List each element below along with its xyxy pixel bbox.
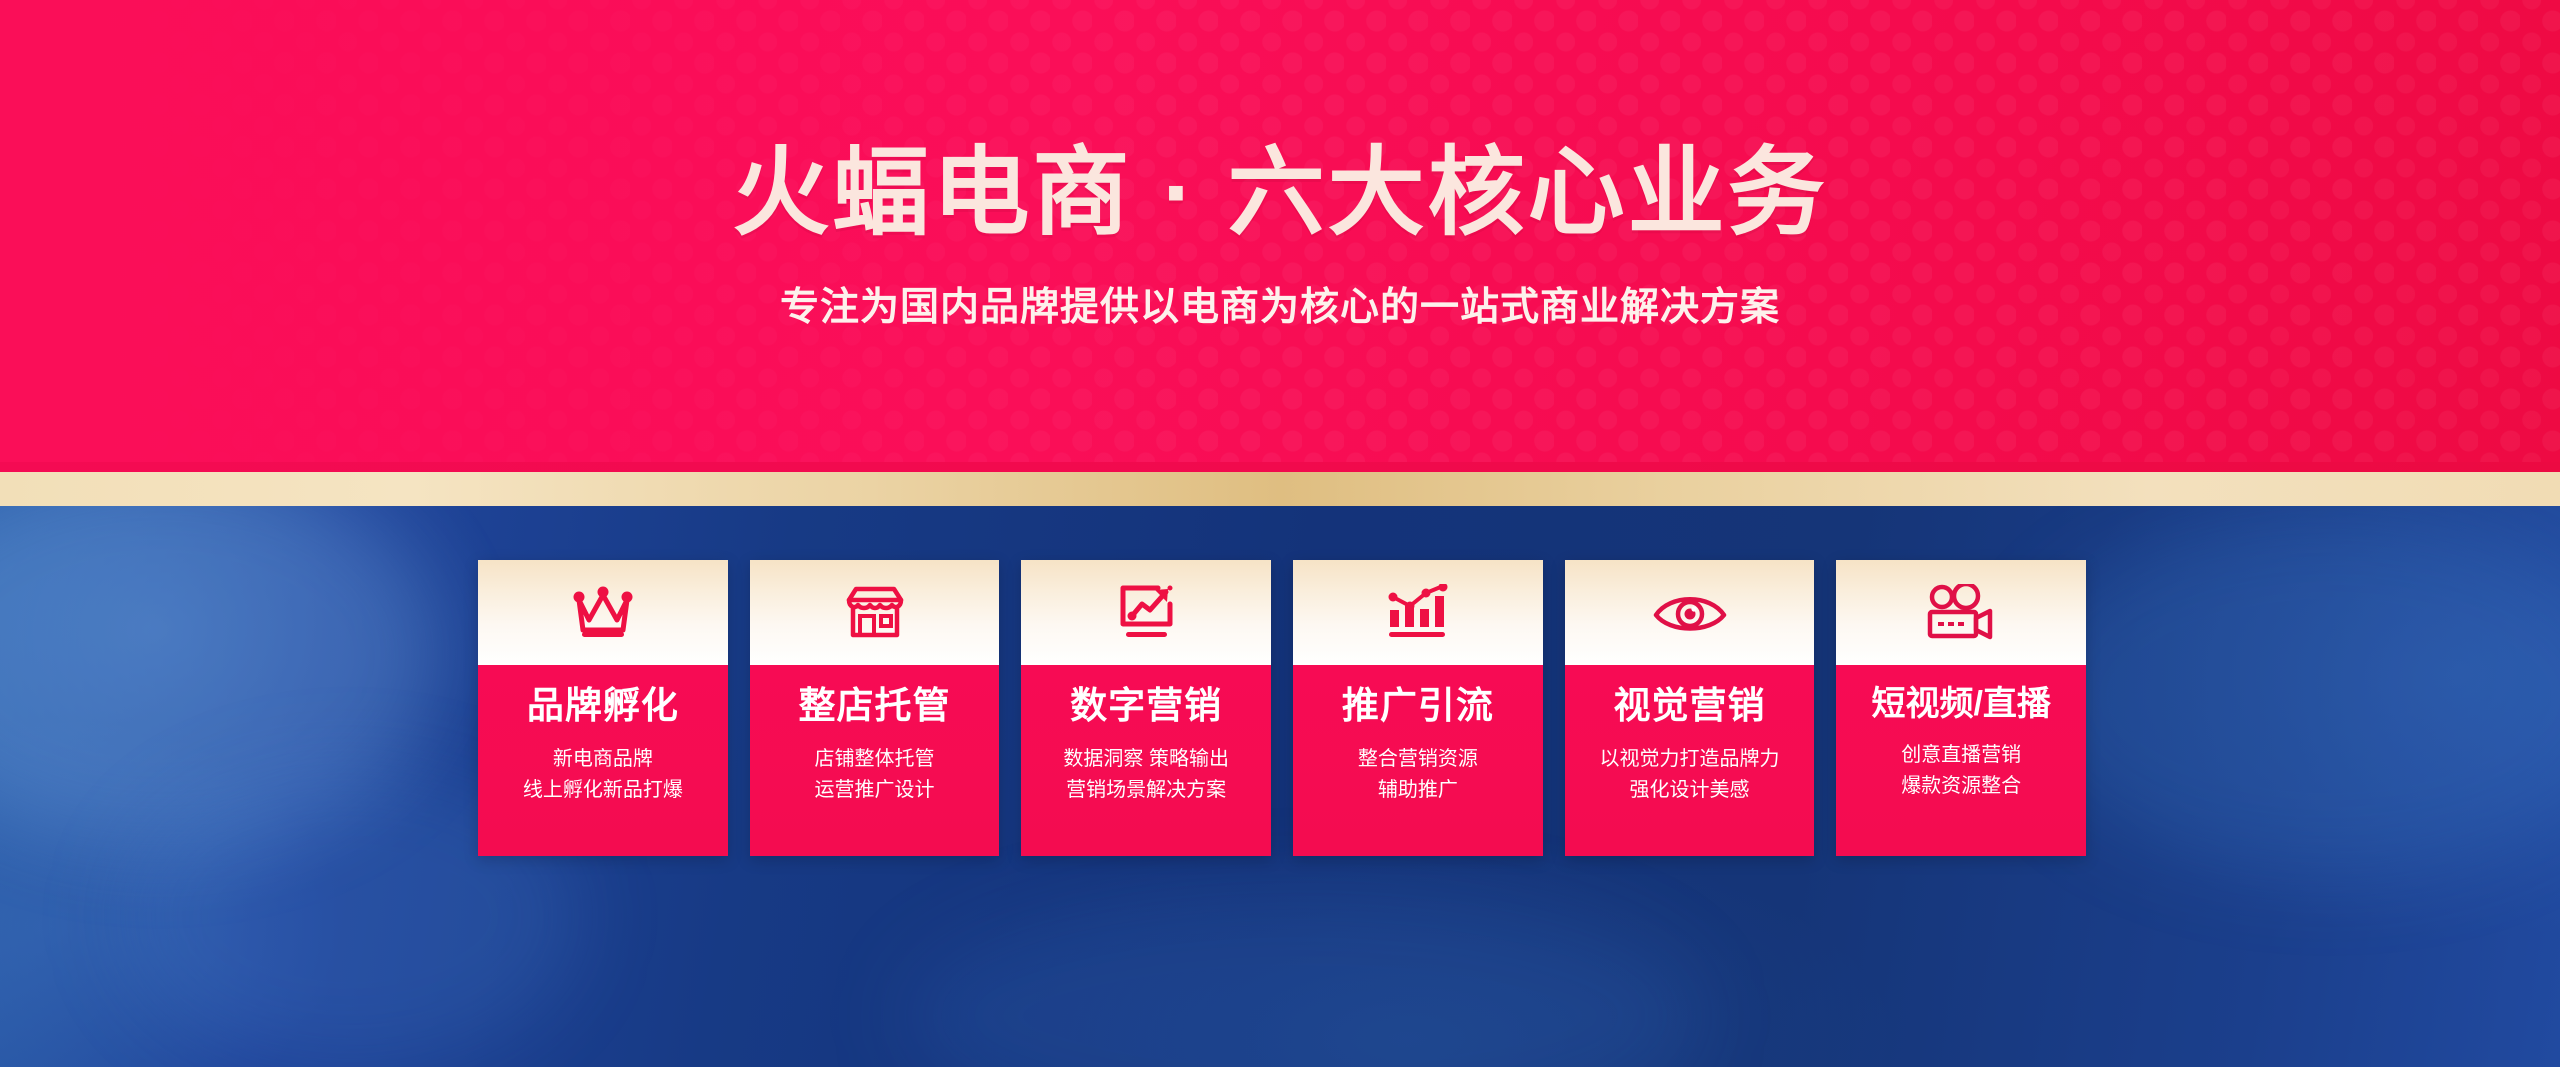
card-text-area: 推广引流 整合营销资源 辅助推广	[1293, 665, 1543, 856]
service-card-short-video-live[interactable]: 短视频/直播 创意直播营销 爆款资源整合	[1836, 560, 2086, 856]
cloud-texture-left	[0, 506, 440, 846]
card-description: 创意直播营销 爆款资源整合	[1901, 740, 2021, 802]
card-description-line2: 线上孵化新品打爆	[523, 775, 683, 806]
card-title: 视觉营销	[1614, 686, 1766, 727]
card-description-line1: 创意直播营销	[1901, 740, 2021, 771]
card-description: 数据洞察 策略输出 营销场景解决方案	[1063, 744, 1229, 806]
card-description-line2: 营销场景解决方案	[1063, 775, 1229, 806]
card-text-area: 品牌孵化 新电商品牌 线上孵化新品打爆	[478, 665, 728, 856]
card-icon-area	[1293, 560, 1543, 665]
card-text-area: 短视频/直播 创意直播营销 爆款资源整合	[1836, 665, 2086, 856]
card-icon-area	[478, 560, 728, 665]
cloud-texture-right	[2020, 516, 2560, 876]
trend-chart-icon	[1114, 584, 1178, 642]
card-icon-area	[1836, 560, 2086, 665]
card-icon-area	[1021, 560, 1271, 665]
card-icon-area	[1565, 560, 1815, 665]
card-text-area: 数字营销 数据洞察 策略输出 营销场景解决方案	[1021, 665, 1271, 856]
card-description-line2: 爆款资源整合	[1901, 771, 2021, 802]
crown-icon	[571, 586, 635, 640]
service-card-list: 品牌孵化 新电商品牌 线上孵化新品打爆	[478, 560, 2086, 856]
card-description: 新电商品牌 线上孵化新品打爆	[523, 744, 683, 806]
video-camera-icon	[1926, 584, 1996, 642]
service-card-traffic-promotion[interactable]: 推广引流 整合营销资源 辅助推广	[1293, 560, 1543, 856]
service-card-digital-marketing[interactable]: 数字营销 数据洞察 策略输出 营销场景解决方案	[1021, 560, 1271, 856]
card-icon-area	[750, 560, 1000, 665]
card-description-line2: 辅助推广	[1358, 775, 1478, 806]
service-card-brand-incubation[interactable]: 品牌孵化 新电商品牌 线上孵化新品打爆	[478, 560, 728, 856]
bar-chart-icon	[1386, 584, 1450, 642]
card-title: 数字营销	[1070, 686, 1222, 727]
card-description-line2: 运营推广设计	[815, 775, 935, 806]
card-description-line1: 店铺整体托管	[815, 744, 935, 775]
service-card-store-management[interactable]: 整店托管 店铺整体托管 运营推广设计	[750, 560, 1000, 856]
gold-divider-band	[0, 472, 2560, 506]
card-description: 整合营销资源 辅助推广	[1358, 744, 1478, 806]
card-title: 整店托管	[799, 686, 951, 727]
eye-icon	[1652, 590, 1728, 636]
card-description-line1: 新电商品牌	[523, 744, 683, 775]
card-description: 以视觉力打造品牌力 强化设计美感	[1600, 744, 1780, 806]
card-title: 品牌孵化	[527, 686, 679, 727]
card-description-line1: 以视觉力打造品牌力	[1600, 744, 1780, 775]
cloud-texture-bottom	[900, 886, 1700, 1067]
banner-stage: 火蝠电商 · 六大核心业务 专注为国内品牌提供以电商为核心的一站式商业解决方案 …	[0, 0, 2560, 1067]
banner-header: 火蝠电商 · 六大核心业务 专注为国内品牌提供以电商为核心的一站式商业解决方案	[0, 0, 2560, 462]
card-description: 店铺整体托管 运营推广设计	[815, 744, 935, 806]
service-card-visual-marketing[interactable]: 视觉营销 以视觉力打造品牌力 强化设计美感	[1565, 560, 1815, 856]
card-title: 短视频/直播	[1871, 686, 2050, 723]
divider-pink-edge	[0, 462, 2560, 472]
card-description-line2: 强化设计美感	[1600, 775, 1780, 806]
page-title: 火蝠电商 · 六大核心业务	[0, 142, 2560, 244]
card-description-line1: 数据洞察 策略输出	[1063, 744, 1229, 775]
card-text-area: 整店托管 店铺整体托管 运营推广设计	[750, 665, 1000, 856]
page-subtitle: 专注为国内品牌提供以电商为核心的一站式商业解决方案	[0, 285, 2560, 332]
card-title: 推广引流	[1342, 686, 1494, 727]
card-description-line1: 整合营销资源	[1358, 744, 1478, 775]
card-text-area: 视觉营销 以视觉力打造品牌力 强化设计美感	[1565, 665, 1815, 856]
storefront-icon	[844, 584, 906, 642]
